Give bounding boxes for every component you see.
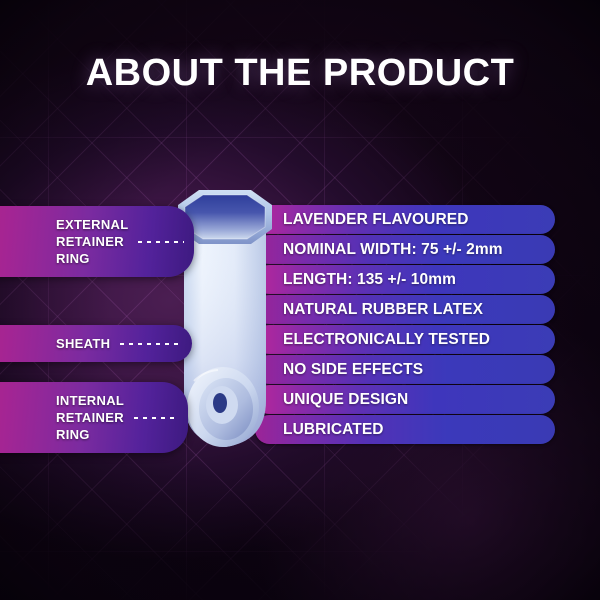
leader-line-dashed (120, 343, 182, 345)
infographic-poster: ABOUT THE PRODUCT LAVENDER FLAVOURED NOM… (0, 0, 600, 600)
callout-sheath: SHEATH (0, 325, 192, 362)
leader-line-dashed (138, 241, 184, 243)
internal-retainer-ring-center (213, 393, 227, 413)
feature-label: ELECTRONICALLY TESTED (283, 331, 490, 349)
external-retainer-ring-inner (185, 195, 265, 239)
callout-line: INTERNAL (56, 392, 124, 409)
feature-label: UNIQUE DESIGN (283, 391, 408, 409)
feature-label: NOMINAL WIDTH: 75 +/- 2mm (283, 241, 503, 259)
feature-label: NO SIDE EFFECTS (283, 361, 423, 379)
feature-list: LAVENDER FLAVOURED NOMINAL WIDTH: 75 +/-… (255, 205, 555, 445)
feature-bar: LUBRICATED (255, 415, 555, 444)
callout-line: EXTERNAL (56, 216, 128, 233)
feature-bar: NO SIDE EFFECTS (255, 355, 555, 384)
callout-line: RING (56, 250, 128, 267)
callout-external-retainer-ring: EXTERNAL RETAINER RING (0, 206, 194, 277)
feature-bar: LAVENDER FLAVOURED (255, 205, 555, 234)
callout-line: SHEATH (56, 335, 110, 352)
callout-line: RING (56, 426, 124, 443)
feature-bar: ELECTRONICALLY TESTED (255, 325, 555, 354)
leader-line-dashed (134, 417, 178, 419)
feature-label: NATURAL RUBBER LATEX (283, 301, 483, 319)
feature-bar: LENGTH: 135 +/- 10mm (255, 265, 555, 294)
callout-text: SHEATH (0, 325, 114, 362)
feature-label: LENGTH: 135 +/- 10mm (283, 271, 456, 289)
page-title: ABOUT THE PRODUCT (0, 52, 600, 95)
callout-line: RETAINER (56, 233, 128, 250)
feature-bar: NATURAL RUBBER LATEX (255, 295, 555, 324)
callout-text: INTERNAL RETAINER RING (0, 382, 128, 453)
feature-label: LAVENDER FLAVOURED (283, 211, 469, 229)
callout-line: RETAINER (56, 409, 124, 426)
callout-text: EXTERNAL RETAINER RING (0, 206, 132, 277)
feature-bar: UNIQUE DESIGN (255, 385, 555, 414)
feature-bar: NOMINAL WIDTH: 75 +/- 2mm (255, 235, 555, 264)
callout-internal-retainer-ring: INTERNAL RETAINER RING (0, 382, 188, 453)
feature-label: LUBRICATED (283, 421, 384, 439)
